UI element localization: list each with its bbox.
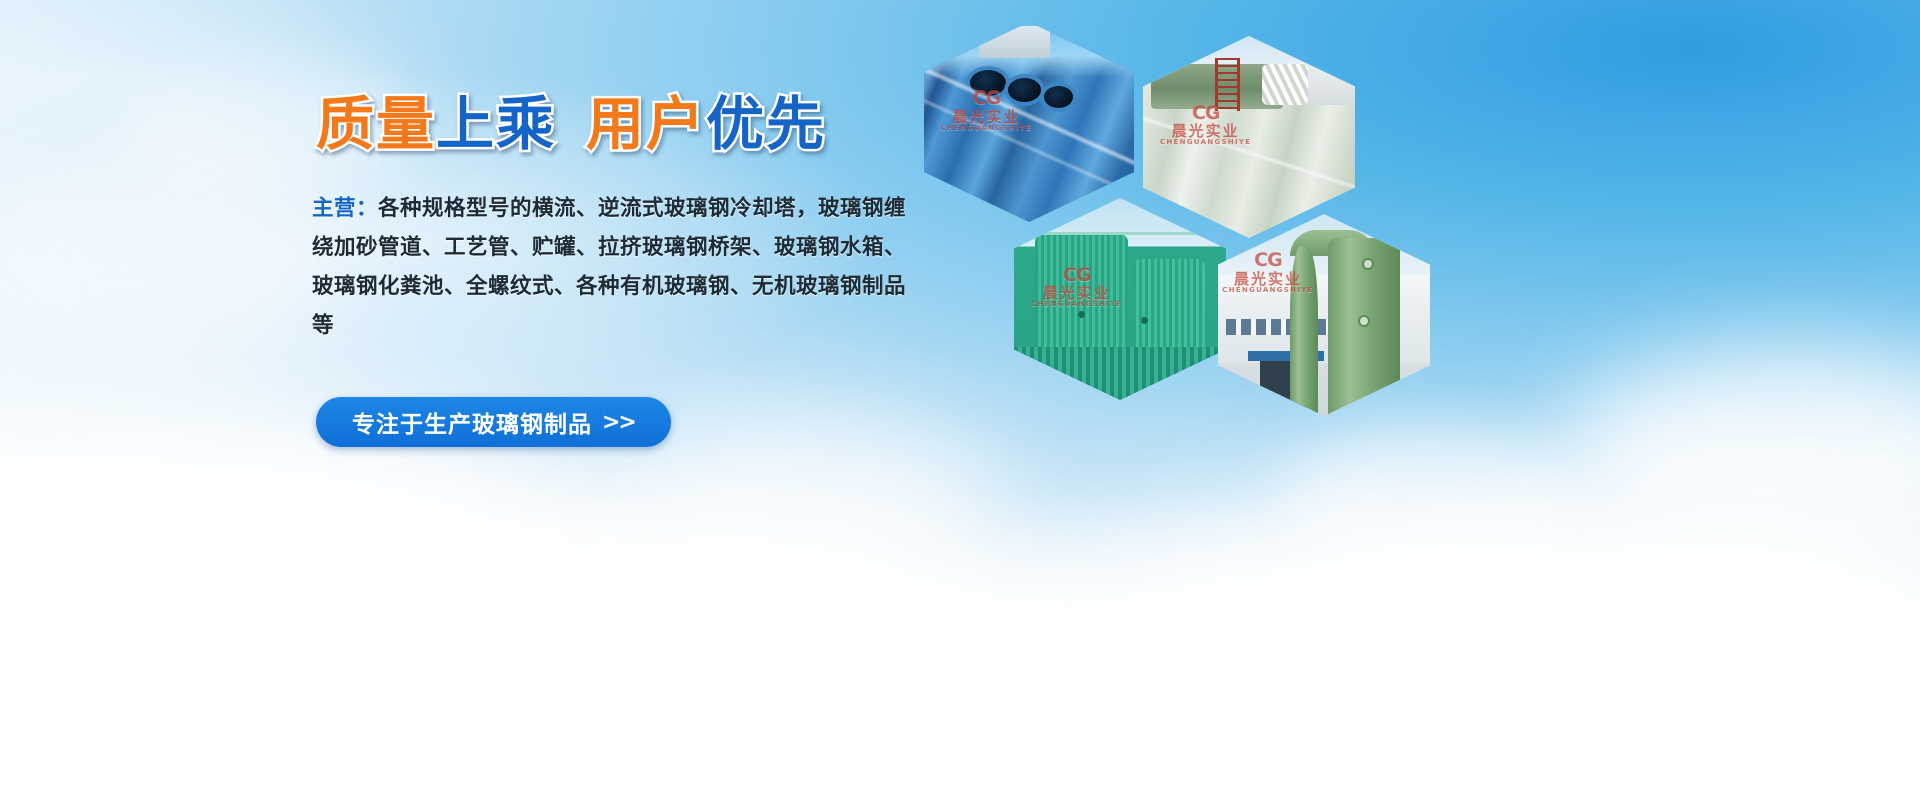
photo-tower-primary — [1035, 234, 1128, 359]
chevron-right-icon: >> — [602, 410, 635, 435]
photo-pipe-opening — [1040, 82, 1077, 112]
photo-building — [1300, 52, 1355, 105]
photo-frp-cooling-tower — [1014, 198, 1226, 400]
photo-frp-scrubber-tower — [1218, 214, 1430, 416]
promotional-banner: 质量上乘用户优先 主营：各种规格型号的横流、逆流式玻璃钢冷却塔，玻璃钢缠绕加砂管… — [0, 0, 1920, 789]
cta-button-label: 专注于生产玻璃钢制品 — [352, 405, 592, 439]
cta-button[interactable]: 专注于生产玻璃钢制品 >> — [316, 397, 671, 447]
headline-segment-1: 质量 — [316, 95, 436, 153]
gallery-tile-pipes-grey[interactable]: CG 晨光实业 CHENGUANGSHIYE — [1143, 36, 1355, 238]
cloud-decoration — [1060, 500, 1880, 789]
photo-wound-frp-pipes — [1143, 36, 1355, 238]
photo-flange-bolt — [1358, 315, 1370, 327]
gallery-tile-pipes-blue[interactable]: CG 晨光实业 CHENGUANGSHIYE — [924, 22, 1134, 222]
business-scope-label: 主营： — [312, 196, 378, 221]
headline-segment-3: 用户 — [586, 95, 706, 153]
photo-ladder — [1215, 58, 1240, 111]
photo-duct-vertical — [1290, 246, 1318, 416]
headline-segment-4: 优先 — [706, 95, 826, 153]
cloud-decoration — [380, 540, 1100, 789]
cloud-decoration — [0, 430, 580, 730]
photo-coil — [1262, 64, 1309, 104]
photo-tower-secondary — [1133, 259, 1205, 360]
photo-railing — [1031, 232, 1209, 235]
photo-blue-frp-pipes — [924, 22, 1134, 222]
photo-pipe-opening — [1004, 74, 1046, 106]
photo-tower-base — [1014, 347, 1226, 400]
photo-building — [979, 26, 1050, 58]
photo-nozzle — [1078, 311, 1085, 318]
business-scope-paragraph: 主营：各种规格型号的横流、逆流式玻璃钢冷却塔，玻璃钢缠绕加砂管道、工艺管、贮罐、… — [312, 189, 912, 346]
product-photo-cluster: CG 晨光实业 CHENGUANGSHIYE CG 晨光实业 CHENGUANG… — [918, 8, 1438, 428]
copy-block: 质量上乘用户优先 主营：各种规格型号的横流、逆流式玻璃钢冷却塔，玻璃钢缠绕加砂管… — [312, 95, 932, 447]
cloud-decoration — [1560, 350, 1920, 570]
page-title: 质量上乘用户优先 — [316, 95, 932, 153]
photo-highlight — [1143, 112, 1355, 197]
gallery-tile-scrubber[interactable]: CG 晨光实业 CHENGUANGSHIYE — [1218, 214, 1430, 416]
cloud-decoration — [1280, 430, 1580, 570]
cloud-decoration — [0, 150, 360, 360]
gallery-tile-cooling-tower[interactable]: CG 晨光实业 CHENGUANGSHIYE — [1014, 198, 1226, 400]
headline-segment-2: 上乘 — [436, 95, 556, 153]
business-scope-line-3: 粪池、全螺纹式、各种有机玻璃钢、无机玻璃钢制品等 — [312, 274, 906, 338]
horizon-fade — [0, 489, 1920, 789]
